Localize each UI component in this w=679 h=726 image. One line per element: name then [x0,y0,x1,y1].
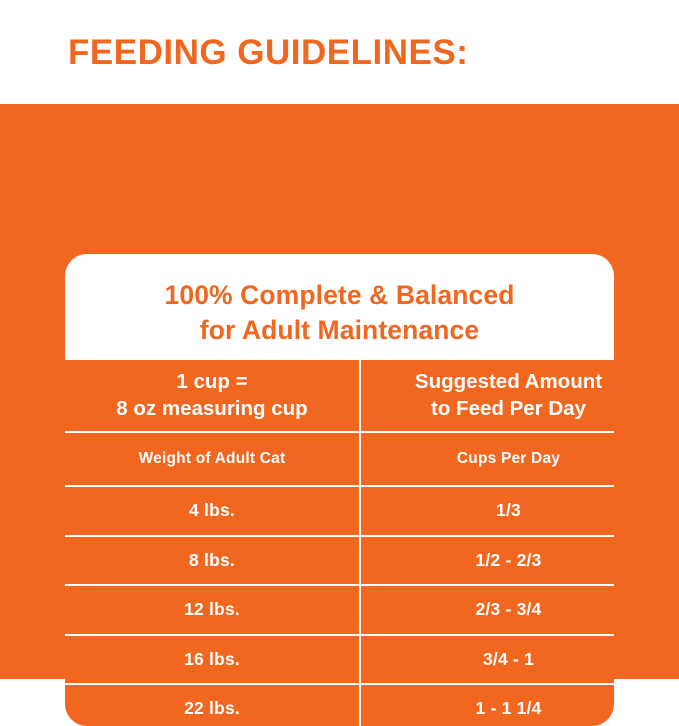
feeding-chart-card: 100% Complete & Balanced for Adult Maint… [65,254,614,726]
page-title: FEEDING GUIDELINES: [68,35,468,70]
cell-weight: 8 lbs. [65,536,360,586]
cup-definition-line-1: 1 cup = [176,370,247,393]
cell-cup-definition: 1 cup = 8 oz measuring cup [65,360,360,432]
cell-cups: 1 - 1 1/4 [360,684,614,726]
table-row: 4 lbs. 1/3 [65,486,614,536]
cell-weight: 22 lbs. [65,684,360,726]
card-title-line-1: 100% Complete & Balanced [165,280,515,310]
table-row-measure-header: 1 cup = 8 oz measuring cup Suggested Amo… [65,360,614,432]
suggested-amount-line-2: to Feed Per Day [371,396,614,422]
cell-weight: 16 lbs. [65,635,360,685]
feeding-table: 1 cup = 8 oz measuring cup Suggested Amo… [65,360,614,726]
table-row: 22 lbs. 1 - 1 1/4 [65,684,614,726]
table-row: 8 lbs. 1/2 - 2/3 [65,536,614,586]
orange-background-panel: 100% Complete & Balanced for Adult Maint… [0,104,679,679]
cup-definition-line-2: 8 oz measuring cup [75,396,349,422]
cell-cups: 3/4 - 1 [360,635,614,685]
cell-weight: 4 lbs. [65,486,360,536]
table-row: 12 lbs. 2/3 - 3/4 [65,585,614,635]
card-title-line-2: for Adult Maintenance [65,313,614,348]
cell-suggested-amount: Suggested Amount to Feed Per Day [360,360,614,432]
suggested-amount-line-1: Suggested Amount [415,370,602,393]
column-header-weight: Weight of Adult Cat [65,432,360,486]
page-header: FEEDING GUIDELINES: [0,0,679,104]
feeding-guidelines-page: FEEDING GUIDELINES: 100% Complete & Bala… [0,0,679,679]
table-row-column-headers: Weight of Adult Cat Cups Per Day [65,432,614,486]
cell-weight: 12 lbs. [65,585,360,635]
card-title: 100% Complete & Balanced for Adult Maint… [65,254,614,348]
feeding-table-wrapper: 1 cup = 8 oz measuring cup Suggested Amo… [65,360,614,726]
table-row: 16 lbs. 3/4 - 1 [65,635,614,685]
cell-cups: 2/3 - 3/4 [360,585,614,635]
column-header-cups: Cups Per Day [360,432,614,486]
cell-cups: 1/3 [360,486,614,536]
cell-cups: 1/2 - 2/3 [360,536,614,586]
